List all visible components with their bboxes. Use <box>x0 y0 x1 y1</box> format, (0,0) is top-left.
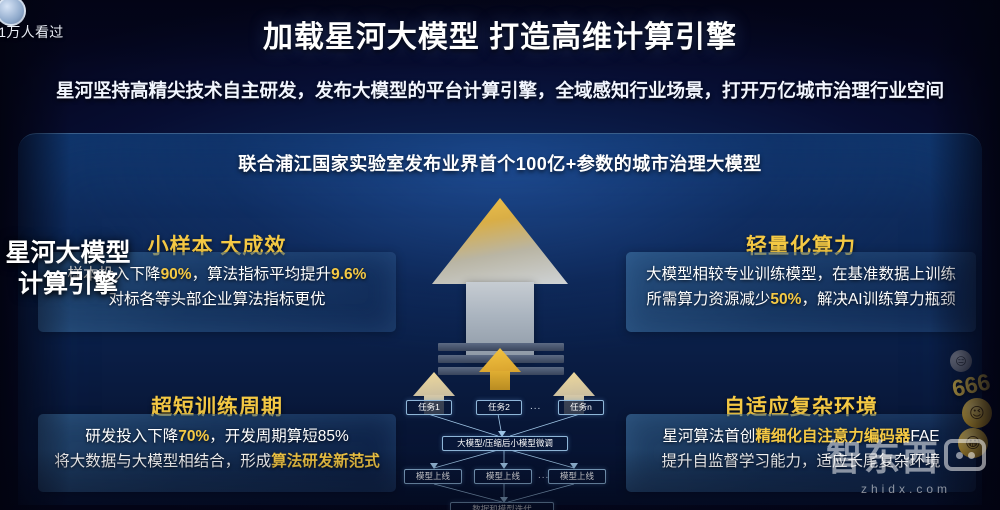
body-text: ，开发周期算短85% <box>209 428 349 445</box>
pipeline-diagram: 任务1 任务2 ... 任务n 大模型/压缩后小模型微调 模型上线 模型上线 .… <box>398 392 612 510</box>
panel-light-compute: 大模型相较专业训练模型，在基准数据上训练所需算力资源减少50%，解决AI训练算力… <box>626 252 976 332</box>
body-text: 研发投入下降 <box>85 428 178 445</box>
reaction-emoji-grin: 😀 <box>958 428 988 458</box>
panel-text-line: 提升自监督学习能力，适应长尾复杂环境 <box>632 449 970 474</box>
viewer-count-badge: 1.1万人看过 <box>0 22 64 42</box>
flow-node-task-1: 任务1 <box>406 400 452 415</box>
flow-node-finetune: 大模型/压缩后小模型微调 <box>442 436 568 451</box>
flow-task-ellipsis: ... <box>530 401 541 412</box>
up-arrow-icon <box>432 198 568 358</box>
panel-short-training-cycle: 研发投入下降70%，开发周期算短85%将大数据与大模型相结合，形成算法研发新范式 <box>38 414 396 492</box>
panel-adaptive-environment: 星河算法首创精细化自注意力编码器FAE提升自监督学习能力，适应长尾复杂环境 <box>626 414 976 492</box>
arrow-label-line2: 计算引擎 <box>0 269 206 300</box>
panel-body: 大模型相较专业训练模型，在基准数据上训练所需算力资源减少50%，解决AI训练算力… <box>626 256 976 312</box>
card-banner-text: 联合浦江国家实验室发布业界首个100亿+参数的城市治理大模型 <box>18 150 982 176</box>
highlight-text: 算法研发新范式 <box>271 453 380 470</box>
body-text: 所需算力资源减少 <box>646 291 770 308</box>
body-text: 提升自监督学习能力，适应长尾复杂环境 <box>661 453 940 470</box>
highlight-text: 9.6% <box>331 266 366 283</box>
panel-body: 研发投入下降70%，开发周期算短85%将大数据与大模型相结合，形成算法研发新范式 <box>38 418 396 474</box>
body-text: FAE <box>910 428 939 445</box>
panel-text-line: 星河算法首创精细化自注意力编码器FAE <box>632 424 970 449</box>
avatar-icon <box>0 0 26 26</box>
reaction-emoji-wink: 😉 <box>962 398 992 428</box>
arrow-head <box>432 198 568 284</box>
flow-node-deploy-3: 模型上线 <box>548 469 606 484</box>
reaction-emoji-neutral: 😑 <box>950 350 972 372</box>
flow-node-deploy-2: 模型上线 <box>474 469 532 484</box>
viewer-count-label: 1.1万人看过 <box>0 24 64 40</box>
arrow-label-line1: 星河大模型 <box>0 238 206 269</box>
presentation-slide: 1.1万人看过 加载星河大模型 打造高维计算引擎 星河坚持高精尖技术自主研发，发… <box>0 0 1000 510</box>
body-text: 将大数据与大模型相结合，形成 <box>54 453 271 470</box>
panel-text-line: 将大数据与大模型相结合，形成算法研发新范式 <box>44 449 390 474</box>
panel-text-line: 所需算力资源减少50%，解决AI训练算力瓶颈 <box>632 287 970 312</box>
page-subtitle: 星河坚持高精尖技术自主研发，发布大模型的平台计算引擎，全域感知行业场景，打开万亿… <box>18 78 982 105</box>
panel-body: 星河算法首创精细化自注意力编码器FAE提升自监督学习能力，适应长尾复杂环境 <box>626 418 976 474</box>
body-text: 星河算法首创 <box>662 428 755 445</box>
highlight-text: 50% <box>770 291 801 308</box>
flow-node-task-n: 任务n <box>558 400 604 415</box>
panel-text-line: 大模型相较专业训练模型，在基准数据上训练 <box>632 262 970 287</box>
body-text: ，算法指标平均提升 <box>192 266 332 283</box>
highlight-text: 70% <box>178 428 209 445</box>
highlight-text: 精细化自注意力编码器 <box>755 428 910 445</box>
panel-text-line: 研发投入下降70%，开发周期算短85% <box>44 424 390 449</box>
body-text: 大模型相较专业训练模型，在基准数据上训练 <box>646 266 956 283</box>
center-arrow-label: 星河大模型 计算引擎 <box>0 238 206 301</box>
mini-arrow-center-icon <box>479 348 521 390</box>
body-text: ，解决AI训练算力瓶颈 <box>801 291 955 308</box>
flow-node-iteration: 数据和模型迭代 <box>450 502 554 510</box>
flow-node-deploy-1: 模型上线 <box>404 469 462 484</box>
page-title: 加载星河大模型 打造高维计算引擎 <box>0 12 1000 56</box>
flow-node-task-2: 任务2 <box>476 400 522 415</box>
